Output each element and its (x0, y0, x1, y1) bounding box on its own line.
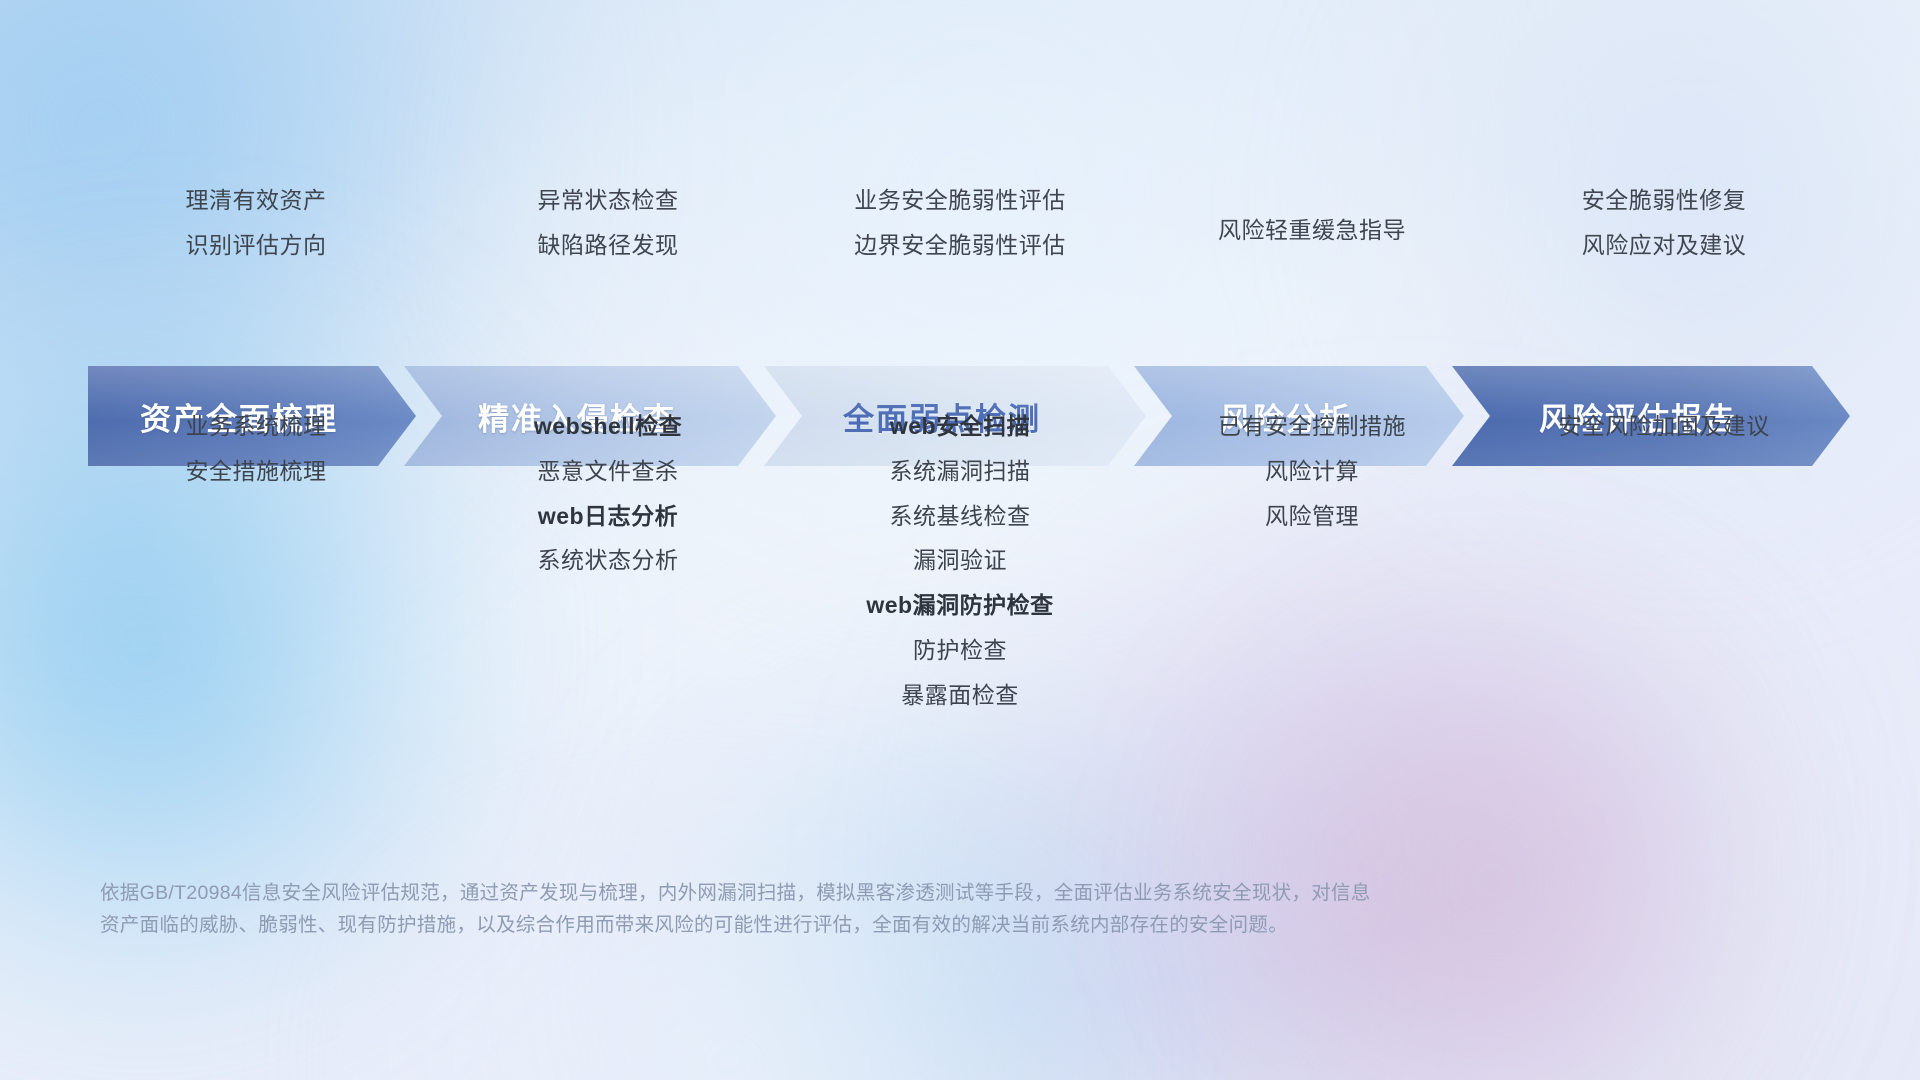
bottom-label-column-4: 已有安全控制措施 风险计算 风险管理 (1136, 412, 1488, 709)
footer-description: 依据GB/T20984信息安全风险评估规范，通过资产发现与梳理，内外网漏洞扫描，… (100, 878, 1660, 941)
bottom-label: 已有安全控制措施 (1136, 412, 1488, 441)
top-label: 风险应对及建议 (1488, 231, 1840, 260)
bottom-label-column-2: webshell检查 恶意文件查杀 web日志分析 系统状态分析 (432, 412, 784, 709)
top-label-column-2: 异常状态检查 缺陷路径发现 (432, 186, 784, 260)
bottom-label: 暴露面检查 (784, 681, 1136, 710)
bottom-label: 防护检查 (784, 636, 1136, 665)
bottom-label-group: 安全风险加固及建议 (1488, 412, 1840, 441)
bottom-label: 恶意文件查杀 (432, 457, 784, 486)
bottom-label: 业务系统梳理 (80, 412, 432, 441)
bottom-label: 风险计算 (1136, 457, 1488, 486)
top-label-group: 业务安全脆弱性评估 边界安全脆弱性评估 (784, 186, 1136, 260)
bottom-label: 系统基线检查 (784, 502, 1136, 531)
top-label-group: 异常状态检查 缺陷路径发现 (432, 186, 784, 260)
bottom-label-column-3: web安全扫描 系统漏洞扫描 系统基线检查 漏洞验证 web漏洞防护检查 防护检… (784, 412, 1136, 709)
top-label-group: 理清有效资产 识别评估方向 (80, 186, 432, 260)
top-label: 缺陷路径发现 (432, 231, 784, 260)
top-label: 理清有效资产 (80, 186, 432, 215)
process-diagram: 理清有效资产 识别评估方向 异常状态检查 缺陷路径发现 业务安全脆弱性评估 边界… (0, 0, 1920, 1080)
top-label-column-3: 业务安全脆弱性评估 边界安全脆弱性评估 (784, 186, 1136, 260)
top-label: 风险轻重缓急指导 (1136, 216, 1488, 245)
bottom-label: 安全风险加固及建议 (1488, 412, 1840, 441)
top-label: 识别评估方向 (80, 231, 432, 260)
bottom-label-group: web安全扫描 系统漏洞扫描 系统基线检查 漏洞验证 web漏洞防护检查 防护检… (784, 412, 1136, 709)
bottom-label-column-5: 安全风险加固及建议 (1488, 412, 1840, 709)
top-label-group: 安全脆弱性修复 风险应对及建议 (1488, 186, 1840, 260)
top-label: 业务安全脆弱性评估 (784, 186, 1136, 215)
footer-line-2: 资产面临的威胁、脆弱性、现有防护措施，以及综合作用而带来风险的可能性进行评估，全… (100, 910, 1660, 942)
top-label-column-4: 风险轻重缓急指导 (1136, 186, 1488, 260)
bottom-label: web日志分析 (432, 502, 784, 531)
bottom-label: 系统漏洞扫描 (784, 457, 1136, 486)
bottom-label-group: 业务系统梳理 安全措施梳理 (80, 412, 432, 486)
bottom-label-row: 业务系统梳理 安全措施梳理 webshell检查 恶意文件查杀 web日志分析 … (80, 412, 1840, 709)
bottom-label-column-1: 业务系统梳理 安全措施梳理 (80, 412, 432, 709)
bottom-label: 风险管理 (1136, 502, 1488, 531)
top-label-group: 风险轻重缓急指导 (1136, 186, 1488, 245)
bottom-label: web安全扫描 (784, 412, 1136, 441)
bottom-label-group: 已有安全控制措施 风险计算 风险管理 (1136, 412, 1488, 530)
bottom-label: 安全措施梳理 (80, 457, 432, 486)
bottom-label: 系统状态分析 (432, 546, 784, 575)
bottom-label: 漏洞验证 (784, 546, 1136, 575)
bottom-label: web漏洞防护检查 (784, 591, 1136, 620)
bottom-label: webshell检查 (432, 412, 784, 441)
top-label: 安全脆弱性修复 (1488, 186, 1840, 215)
top-label-row: 理清有效资产 识别评估方向 异常状态检查 缺陷路径发现 业务安全脆弱性评估 边界… (80, 186, 1840, 260)
top-label-column-1: 理清有效资产 识别评估方向 (80, 186, 432, 260)
top-label: 异常状态检查 (432, 186, 784, 215)
top-label-column-5: 安全脆弱性修复 风险应对及建议 (1488, 186, 1840, 260)
footer-line-1: 依据GB/T20984信息安全风险评估规范，通过资产发现与梳理，内外网漏洞扫描，… (100, 878, 1660, 910)
top-label: 边界安全脆弱性评估 (784, 231, 1136, 260)
bottom-label-group: webshell检查 恶意文件查杀 web日志分析 系统状态分析 (432, 412, 784, 575)
